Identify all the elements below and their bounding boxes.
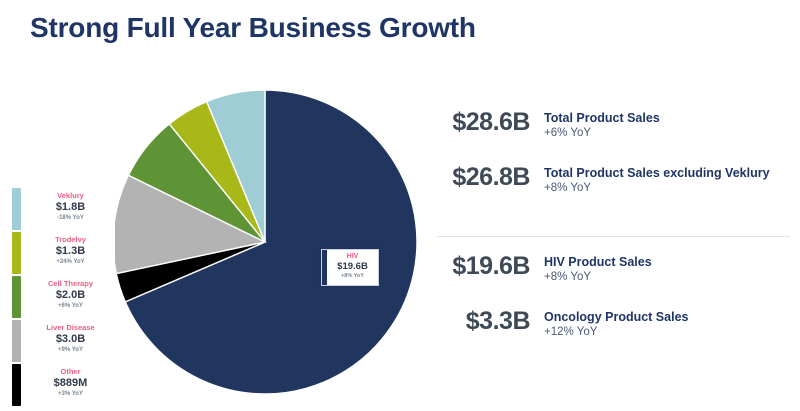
callout-value: $19.6B xyxy=(327,261,378,272)
pie-callout-hiv: HIV $19.6B +8% YoY xyxy=(321,249,379,286)
legend-yoy-trodelvy: +24% YoY xyxy=(29,258,112,267)
legend-value-liver-disease: $3.0B xyxy=(29,333,112,346)
stat-label-oncology-product-sales: Oncology Product Sales xyxy=(544,310,792,325)
legend-text-veklury: Veklury $1.8B -18% YoY xyxy=(29,188,112,230)
legend-name-other: Other xyxy=(29,366,112,377)
stat-yoy-total-product-sales-excluding-veklury: +8% YoY xyxy=(544,181,792,196)
legend-name-liver-disease: Liver Disease xyxy=(29,322,112,333)
legend-name-cell-therapy: Cell Therapy xyxy=(29,278,112,289)
legend-swatch-cell-therapy xyxy=(12,276,21,318)
legend-swatch-liver-disease xyxy=(12,320,21,362)
callout-name: HIV xyxy=(327,252,378,261)
stat-amount-total-product-sales-excluding-veklury: $26.8B xyxy=(432,163,530,191)
stat-label-total-product-sales-excluding-veklury: Total Product Sales excluding Veklury xyxy=(544,166,792,181)
stat-amount-hiv-product-sales: $19.6B xyxy=(432,252,530,280)
stat-amount-total-product-sales: $28.6B xyxy=(432,108,530,136)
stat-hiv-product-sales: $19.6B HIV Product Sales +8% YoY xyxy=(432,252,792,285)
legend-text-cell-therapy: Cell Therapy $2.0B +6% YoY xyxy=(29,276,112,318)
legend-value-veklury: $1.8B xyxy=(29,201,112,214)
callout-body: HIV $19.6B +8% YoY xyxy=(327,250,378,285)
legend-item-cell-therapy[interactable]: Cell Therapy $2.0B +6% YoY xyxy=(12,276,112,318)
legend-name-veklury: Veklury xyxy=(29,190,112,201)
stats-upper: $28.6B Total Product Sales +6% YoY $26.8… xyxy=(432,108,792,218)
stat-amount-oncology-product-sales: $3.3B xyxy=(432,307,530,335)
legend-item-veklury[interactable]: Veklury $1.8B -18% YoY xyxy=(12,188,112,230)
pie-chart xyxy=(115,78,425,403)
legend-value-trodelvy: $1.3B xyxy=(29,245,112,258)
legend-swatch-other xyxy=(12,364,21,406)
legend-value-cell-therapy: $2.0B xyxy=(29,289,112,302)
stat-texts-total-product-sales-excluding-veklury: Total Product Sales excluding Veklury +8… xyxy=(530,163,792,196)
stat-texts-total-product-sales: Total Product Sales +6% YoY xyxy=(530,108,792,141)
legend-value-other: $889M xyxy=(29,377,112,390)
stat-label-hiv-product-sales: HIV Product Sales xyxy=(544,255,792,270)
stat-yoy-oncology-product-sales: +12% YoY xyxy=(544,325,792,340)
legend-item-liver-disease[interactable]: Liver Disease $3.0B +9% YoY xyxy=(12,320,112,362)
stat-yoy-total-product-sales: +6% YoY xyxy=(544,126,792,141)
legend-item-trodelvy[interactable]: Trodelvy $1.3B +24% YoY xyxy=(12,232,112,274)
legend-text-liver-disease: Liver Disease $3.0B +9% YoY xyxy=(29,320,112,362)
stat-texts-hiv-product-sales: HIV Product Sales +8% YoY xyxy=(530,252,792,285)
legend-text-trodelvy: Trodelvy $1.3B +24% YoY xyxy=(29,232,112,274)
stats-lower: $19.6B HIV Product Sales +8% YoY $3.3B O… xyxy=(432,252,792,362)
legend-yoy-other: +3% YoY xyxy=(29,390,112,399)
stat-label-total-product-sales: Total Product Sales xyxy=(544,111,792,126)
stats-divider xyxy=(437,236,790,237)
pie-legend: Veklury $1.8B -18% YoY Trodelvy $1.3B +2… xyxy=(12,188,112,408)
stat-oncology-product-sales: $3.3B Oncology Product Sales +12% YoY xyxy=(432,307,792,340)
pie-chart-svg xyxy=(115,78,425,403)
callout-yoy: +8% YoY xyxy=(327,272,378,280)
stat-total-product-sales: $28.6B Total Product Sales +6% YoY xyxy=(432,108,792,141)
legend-yoy-liver-disease: +9% YoY xyxy=(29,346,112,355)
slide-root: Strong Full Year Business Growth Veklury… xyxy=(0,0,800,411)
page-title: Strong Full Year Business Growth xyxy=(30,12,476,44)
legend-yoy-cell-therapy: +6% YoY xyxy=(29,302,112,311)
stat-total-product-sales-excluding-veklury: $26.8B Total Product Sales excluding Vek… xyxy=(432,163,792,196)
stat-yoy-hiv-product-sales: +8% YoY xyxy=(544,270,792,285)
stat-texts-oncology-product-sales: Oncology Product Sales +12% YoY xyxy=(530,307,792,340)
legend-name-trodelvy: Trodelvy xyxy=(29,234,112,245)
legend-swatch-veklury xyxy=(12,188,21,230)
legend-text-other: Other $889M +3% YoY xyxy=(29,364,112,406)
legend-swatch-trodelvy xyxy=(12,232,21,274)
legend-yoy-veklury: -18% YoY xyxy=(29,214,112,223)
legend-item-other[interactable]: Other $889M +3% YoY xyxy=(12,364,112,406)
